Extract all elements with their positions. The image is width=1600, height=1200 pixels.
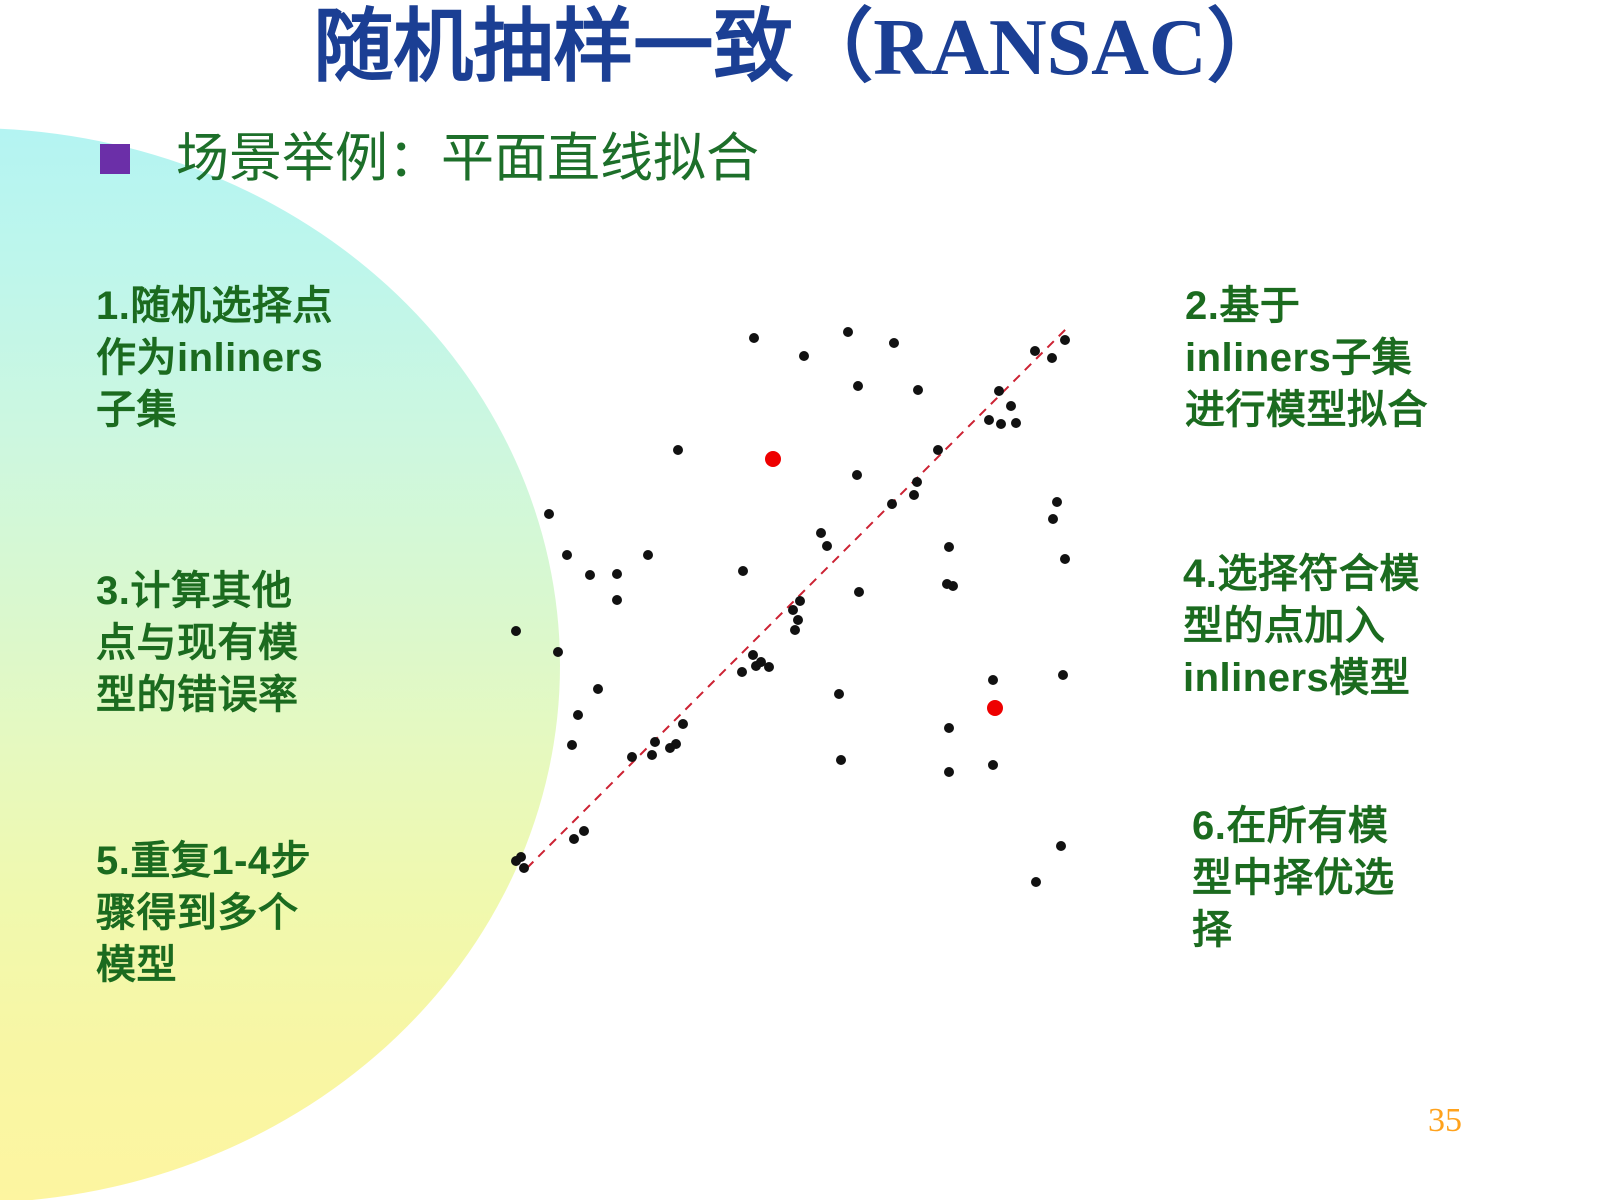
square-bullet-icon: [100, 144, 130, 174]
scatter-point: [788, 605, 798, 615]
scatter-point: [567, 740, 577, 750]
scatter-point: [749, 333, 759, 343]
scatter-point: [799, 351, 809, 361]
scatter-point: [511, 626, 521, 636]
scatter-point: [822, 541, 832, 551]
scatter-point: [511, 856, 521, 866]
step-1-text: 1.随机选择点 作为inliners 子集: [96, 280, 496, 436]
scatter-point: [1047, 353, 1057, 363]
scatter-plot-svg: [480, 290, 1100, 890]
scatter-point: [569, 834, 579, 844]
scatter-point: [738, 566, 748, 576]
scatter-point: [987, 700, 1003, 716]
scatter-point: [1058, 670, 1068, 680]
scatter-point: [889, 338, 899, 348]
scatter-point: [765, 451, 781, 467]
scatter-point: [984, 415, 994, 425]
step-2-text: 2.基于 inliners子集 进行模型拟合: [1185, 280, 1515, 436]
step-3-text: 3.计算其他 点与现有模 型的错误率: [96, 565, 496, 721]
scatter-point: [1030, 346, 1040, 356]
scatter-point: [1056, 841, 1066, 851]
scatter-point: [612, 595, 622, 605]
scatter-point: [627, 752, 637, 762]
scatter-point: [650, 737, 660, 747]
scatter-point: [994, 386, 1004, 396]
scatter-point: [793, 615, 803, 625]
scatter-point: [1011, 418, 1021, 428]
scatter-point: [673, 445, 683, 455]
scatter-point: [843, 327, 853, 337]
ransac-scatter-figure: [480, 290, 1100, 890]
scatter-point: [795, 596, 805, 606]
scatter-point: [519, 863, 529, 873]
sampled-inlier-points: [765, 451, 1003, 716]
scatter-point: [1060, 554, 1070, 564]
subtitle-row: 场景举例：平面直线拟合: [100, 132, 759, 185]
scatter-point: [944, 542, 954, 552]
scatter-point: [612, 569, 622, 579]
subtitle-text: 场景举例：平面直线拟合: [176, 132, 759, 185]
scatter-point: [764, 662, 774, 672]
scatter-point: [1060, 335, 1070, 345]
step-5-text: 5.重复1-4步 骤得到多个 模型: [96, 835, 496, 991]
scatter-point: [579, 826, 589, 836]
scatter-point: [887, 499, 897, 509]
scatter-point: [562, 550, 572, 560]
scatter-point: [643, 550, 653, 560]
scatter-point: [852, 470, 862, 480]
scatter-point: [553, 647, 563, 657]
scatter-point: [912, 477, 922, 487]
scatter-point: [942, 579, 952, 589]
page-number: 35: [1428, 1104, 1462, 1138]
scatter-point: [737, 667, 747, 677]
scatter-point: [944, 723, 954, 733]
scatter-point: [996, 419, 1006, 429]
scatter-point: [678, 719, 688, 729]
scatter-point: [593, 684, 603, 694]
scatter-point: [853, 381, 863, 391]
scatter-point: [1052, 497, 1062, 507]
scatter-point: [1031, 877, 1041, 887]
scatter-point: [834, 689, 844, 699]
scatter-point: [748, 650, 758, 660]
scatter-point: [816, 528, 826, 538]
step-4-text: 4.选择符合模 型的点加入 inliners模型: [1183, 548, 1523, 704]
scatter-point: [933, 445, 943, 455]
scatter-point: [573, 710, 583, 720]
scatter-point: [988, 675, 998, 685]
scatter-point: [1006, 401, 1016, 411]
page-title: 随机抽样一致（RANSAC）: [0, 8, 1600, 88]
scatter-point: [913, 385, 923, 395]
scatter-point: [647, 750, 657, 760]
scatter-point: [944, 767, 954, 777]
scatter-point: [671, 739, 681, 749]
scatter-point: [909, 490, 919, 500]
scatter-point: [854, 587, 864, 597]
scatter-point: [836, 755, 846, 765]
scatter-point: [1048, 514, 1058, 524]
step-6-text: 6.在所有模 型中择优选 择: [1192, 800, 1522, 956]
scatter-point: [585, 570, 595, 580]
scatter-point: [790, 625, 800, 635]
slide: 随机抽样一致（RANSAC） 场景举例：平面直线拟合 1.随机选择点 作为inl…: [0, 0, 1600, 1200]
scatter-point: [988, 760, 998, 770]
data-points: [511, 327, 1070, 890]
scatter-point: [544, 509, 554, 519]
